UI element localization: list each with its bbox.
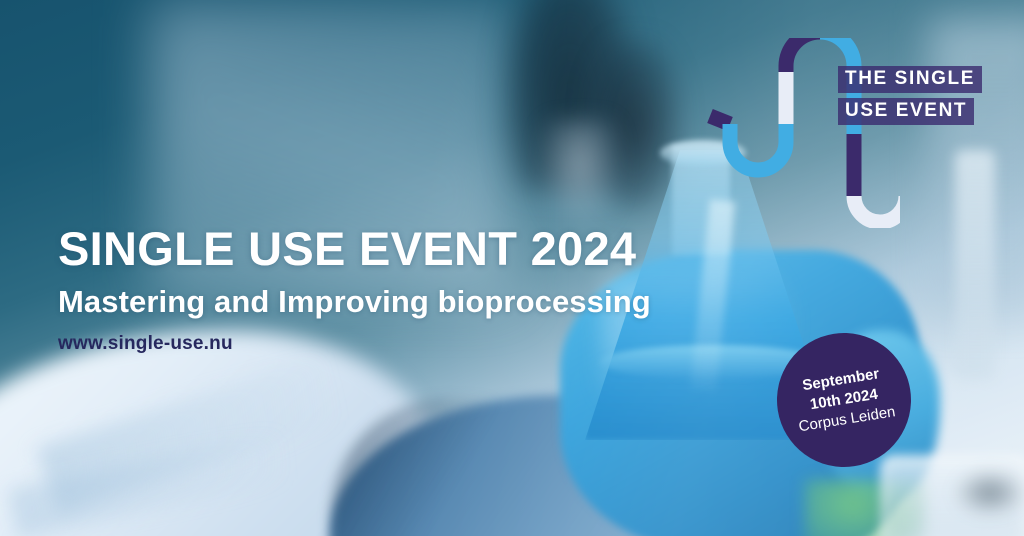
website-link[interactable]: www.single-use.nu	[58, 333, 233, 355]
event-logo[interactable]: THE SINGLE USE EVENT	[700, 38, 1000, 228]
logo-wordmark: THE SINGLE USE EVENT	[838, 66, 982, 125]
logo-line-one: THE SINGLE	[838, 66, 982, 93]
headline-block: SINGLE USE EVENT 2024 Mastering and Impr…	[58, 224, 778, 355]
event-banner: THE SINGLE USE EVENT SINGLE USE EVENT 20…	[0, 0, 1024, 536]
page-subtitle: Mastering and Improving bioprocessing	[58, 285, 778, 319]
logo-line-two: USE EVENT	[838, 98, 974, 125]
page-title: SINGLE USE EVENT 2024	[58, 224, 778, 273]
